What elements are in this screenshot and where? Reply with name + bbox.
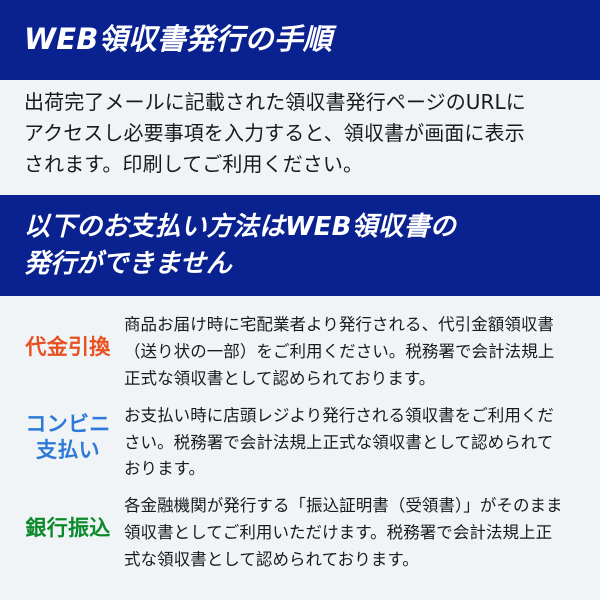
intro-line-2: アクセスし必要事項を入力すると、領収書が画面に表示 — [24, 118, 584, 149]
receipt-info-graphic: WEB領収書発行の手順 出荷完了メールに記載された領収書発行ページのURLに ア… — [0, 0, 600, 600]
payment-method-description-bank: 各金融機関が発行する「振込証明書（受領書）」がそのまま 領収書としてご利用いただ… — [124, 493, 600, 574]
label-line: コンビニ — [25, 412, 110, 436]
description-line: 領収書としてご利用いただけます。税務署で会計法規上正 — [124, 520, 572, 547]
payment-method-label-cod: 代金引換 — [0, 312, 124, 360]
payment-method-description-cod: 商品お届け時に宅配業者より発行される、代引金額領収書 （送り状の一部）をご利用く… — [124, 312, 600, 393]
intro-paragraph: 出荷完了メールに記載された領収書発行ページのURLに アクセスし必要事項を入力す… — [24, 87, 584, 180]
payment-method-description-konbini: お支払い時に店頭レジより発行される領収書をご利用くだ さい。税務署で会計法規上正… — [124, 403, 600, 484]
description-line: 商品お届け時に宅配業者より発行される、代引金額領収書 — [124, 312, 572, 339]
payment-method-row: コンビニ 支払い お支払い時に店頭レジより発行される領収書をご利用くだ さい。税… — [0, 403, 600, 484]
payment-method-row: 代金引換 商品お届け時に宅配業者より発行される、代引金額領収書 （送り状の一部）… — [0, 312, 600, 393]
intro-line-1: 出荷完了メールに記載された領収書発行ページのURLに — [24, 87, 584, 118]
page-title: WEB領収書発行の手順 — [24, 24, 332, 56]
notice-title-line-2: 発行ができません — [24, 246, 456, 283]
description-line: （送り状の一部）をご利用ください。税務署で会計法規上 — [124, 339, 572, 366]
payment-method-row: 銀行振込 各金融機関が発行する「振込証明書（受領書）」がそのまま 領収書としてご… — [0, 493, 600, 574]
description-line: おります。 — [124, 456, 572, 483]
payment-method-label-bank: 銀行振込 — [0, 493, 124, 541]
notice-title-line-1: 以下のお支払い方法はWEB領収書の — [24, 209, 456, 246]
description-line: お支払い時に店頭レジより発行される領収書をご利用くだ — [124, 403, 572, 430]
description-line: 式な領収書として認められております。 — [124, 547, 572, 574]
description-line: 各金融機関が発行する「振込証明書（受領書）」がそのまま — [124, 493, 572, 520]
payment-method-label-konbini: コンビニ 支払い — [0, 403, 124, 464]
description-line: さい。税務署で会計法規上正式な領収書として認められて — [124, 430, 572, 457]
description-line: 正式な領収書として認められております。 — [124, 366, 572, 393]
label-line: 支払い — [36, 438, 100, 462]
main-header-band: WEB領収書発行の手順 — [0, 0, 600, 80]
notice-title: 以下のお支払い方法はWEB領収書の 発行ができません — [24, 209, 456, 283]
intro-line-3: されます。印刷してご利用ください。 — [24, 149, 584, 180]
payment-methods-list: 代金引換 商品お届け時に宅配業者より発行される、代引金額領収書 （送り状の一部）… — [0, 312, 600, 584]
notice-header-band: 以下のお支払い方法はWEB領収書の 発行ができません — [0, 195, 600, 296]
